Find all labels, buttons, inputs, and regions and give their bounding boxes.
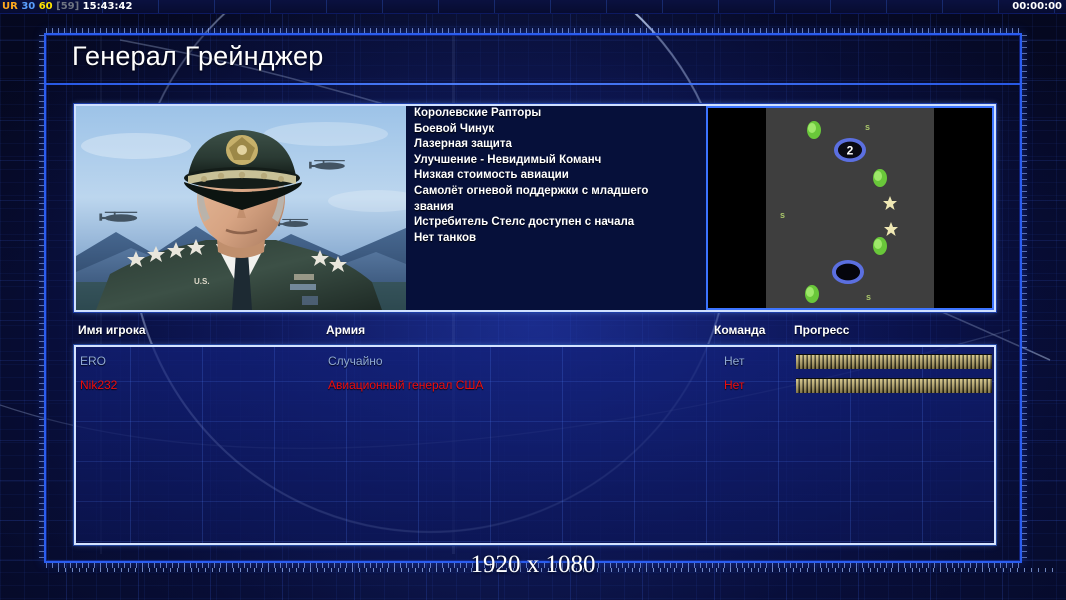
ability-item-wrap: звания (414, 200, 704, 216)
player-name: ERO (80, 354, 106, 368)
column-header-name: Имя игрока (78, 323, 146, 337)
player-list-headers: Имя игрока Армия Команда Прогресс (76, 323, 996, 343)
player-army: Авиационный генерал США (328, 378, 483, 392)
general-portrait: U.S. (76, 106, 406, 310)
ability-item: Нет танков (414, 231, 704, 247)
ability-item: Самолёт огневой поддержки с младшего (414, 184, 704, 200)
resolution-label: 1920 x 1080 (0, 551, 1066, 579)
ability-item: Истребитель Стелс доступен с начала (414, 215, 704, 231)
player-army: Случайно (328, 354, 383, 368)
player-team: Нет (724, 354, 744, 368)
player-progress-fill (796, 379, 992, 393)
topbar-value-yellow: 60 (39, 1, 53, 12)
svg-text:s: s (866, 292, 871, 302)
ability-item: Улучшение - Невидимый Команч (414, 153, 704, 169)
ability-item: Низкая стоимость авиации (414, 168, 704, 184)
column-header-army: Армия (326, 323, 365, 337)
svg-text:2: 2 (847, 144, 854, 158)
topbar-left-stats: UR 30 60 [59] 15:43:42 (2, 0, 132, 14)
top-status-bar: UR 30 60 [59] 15:43:42 00:00:00 (0, 0, 1066, 14)
svg-text:U.S.: U.S. (194, 277, 210, 286)
svg-text:s: s (780, 210, 785, 220)
player-name: Nik232 (80, 378, 117, 392)
window-title-bar: Генерал Грейнджер (46, 35, 1020, 83)
table-row[interactable]: Nik232 Авиационный генерал США Нет (76, 375, 994, 399)
topbar-value-blue: 30 (21, 1, 35, 12)
ability-item: Лазерная защита (414, 137, 704, 153)
ability-item: Королевские Рапторы (414, 106, 704, 122)
player-progress-bar (796, 378, 992, 393)
table-row[interactable]: ERO Случайно Нет (76, 351, 994, 375)
map-preview[interactable]: s s s 2 (706, 106, 994, 310)
map-start-position-2: 2 (836, 140, 864, 160)
ruler-ticks-top (46, 24, 1020, 33)
page-title: Генерал Грейнджер (72, 41, 323, 72)
player-list-panel: ERO Случайно Нет Nik232 Авиационный гене… (74, 345, 996, 545)
title-divider (46, 83, 1020, 85)
ruler-ticks-right (1022, 35, 1031, 561)
ruler-ticks-left (35, 35, 44, 561)
abilities-ul: Королевские Рапторы Боевой Чинук Лазерна… (414, 106, 704, 246)
topbar-timer: 00:00:00 (1012, 0, 1062, 14)
general-details-panel: U.S. Королевские Рапторы Боевой Чинук Ла… (74, 104, 996, 312)
ability-item: Боевой Чинук (414, 122, 704, 138)
player-team: Нет (724, 378, 744, 392)
topbar-ur-label: UR (2, 1, 18, 12)
svg-text:s: s (865, 122, 870, 132)
map-start-position-empty (834, 262, 862, 282)
column-header-progress: Прогресс (794, 323, 849, 337)
player-progress-bar (796, 354, 992, 369)
map-preview-image: s s s 2 (708, 108, 992, 310)
general-portrait-image: U.S. (76, 106, 406, 310)
general-abilities-list: Королевские Рапторы Боевой Чинук Лазерна… (414, 106, 704, 310)
player-progress-fill (796, 355, 992, 369)
topbar-grid-lines (0, 0, 1066, 13)
general-info-window: Генерал Грейнджер (44, 33, 1022, 563)
topbar-value-bracket: [59] (56, 1, 79, 12)
topbar-clock: 15:43:42 (83, 1, 133, 12)
column-header-team: Команда (714, 323, 765, 337)
